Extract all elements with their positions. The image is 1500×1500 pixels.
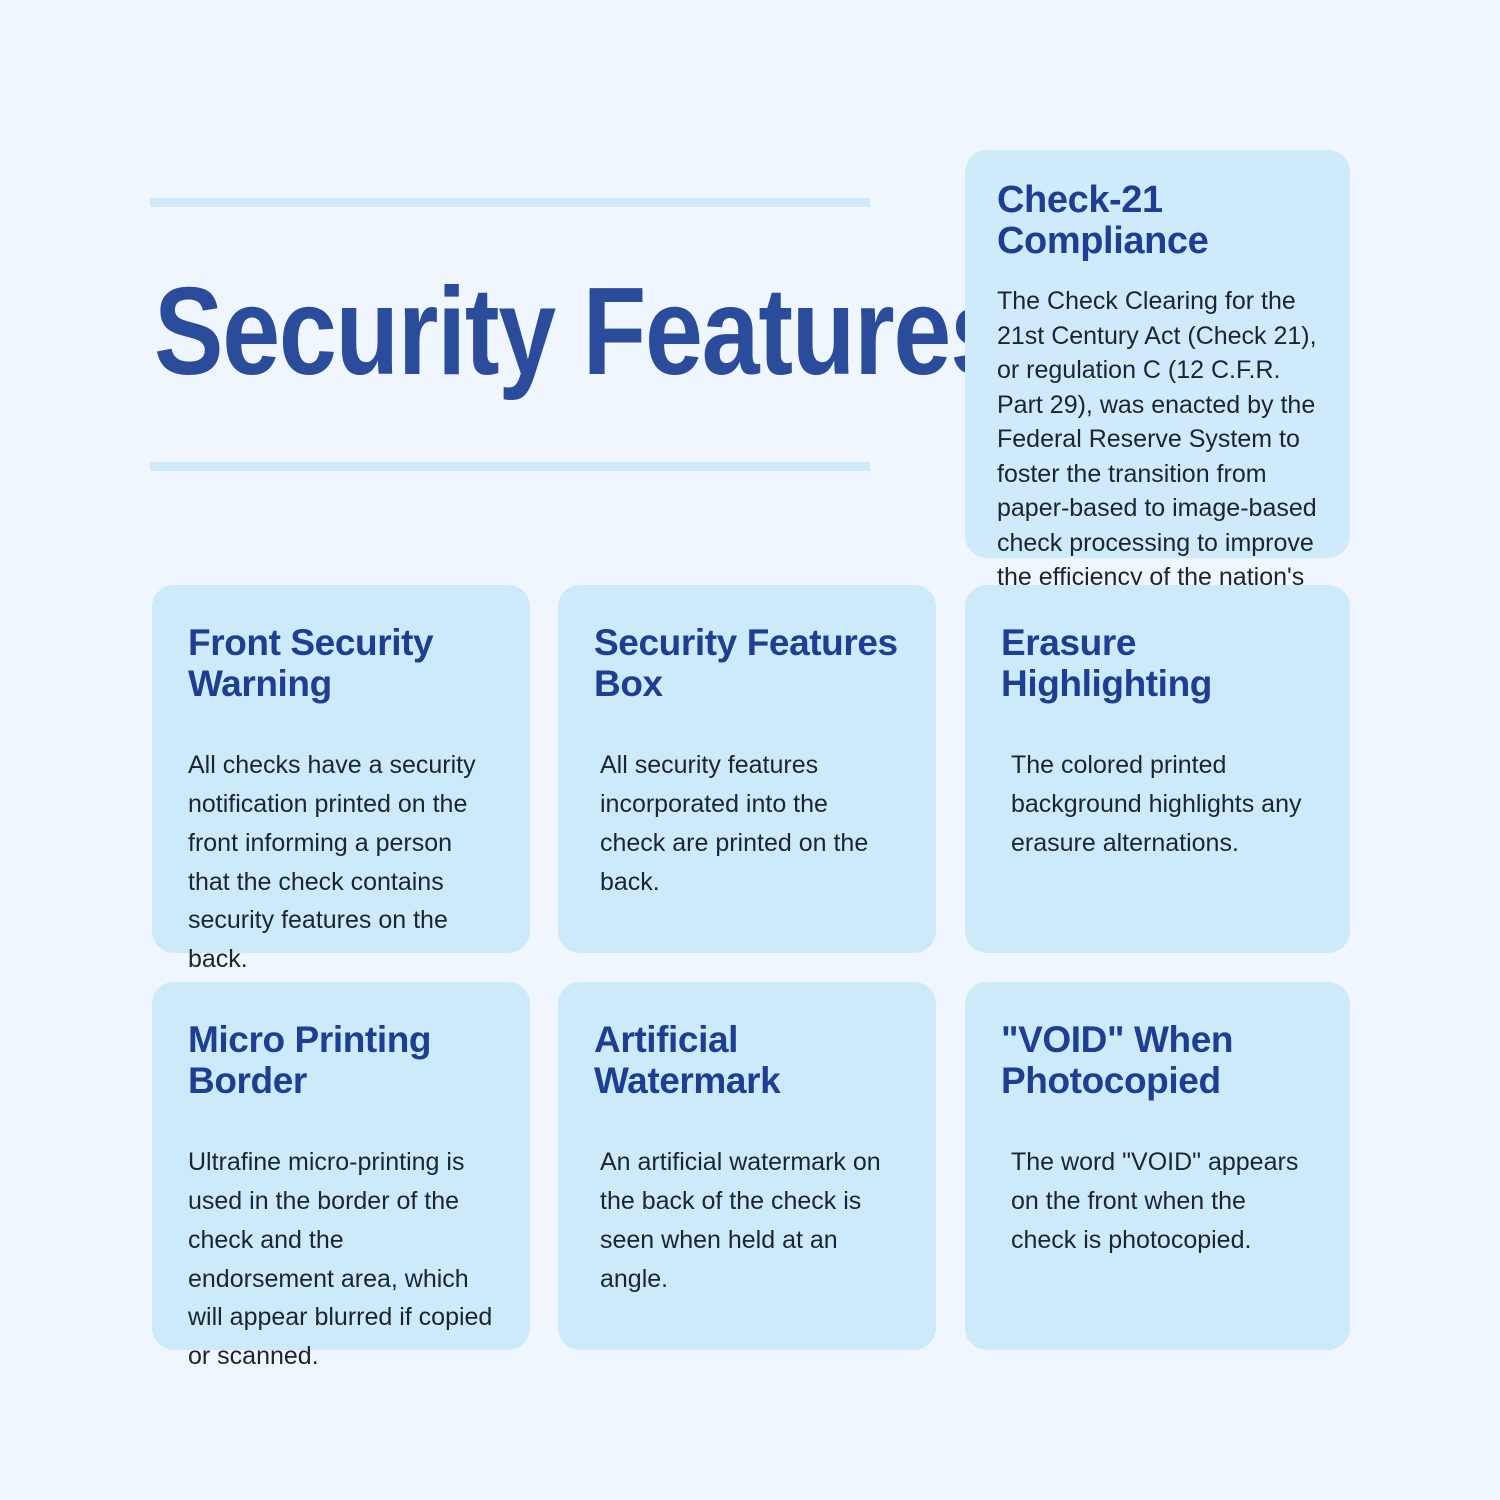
card-micro-printing-border[interactable]: Micro Printing Border Ultrafine micro-pr…: [152, 982, 530, 1350]
card-title: Security Features Box: [594, 623, 900, 704]
card-check-21-compliance[interactable]: Check-21 Compliance The Check Clearing f…: [965, 150, 1350, 558]
card-body: The colored printed background highlight…: [1001, 746, 1314, 862]
card-artificial-watermark[interactable]: Artificial Watermark An artificial water…: [558, 982, 936, 1350]
card-title: Erasure Highlighting: [1001, 623, 1314, 704]
page-title: Security Features: [154, 270, 1007, 394]
card-title: Micro Printing Border: [188, 1020, 494, 1101]
infographic-page: Security Features Check-21 Compliance Th…: [0, 0, 1500, 1500]
title-divider-top: [150, 198, 870, 207]
title-divider-bottom: [150, 462, 870, 471]
card-body: All checks have a security notification …: [188, 746, 494, 979]
card-title: "VOID" When Photocopied: [1001, 1020, 1314, 1101]
card-void-when-photocopied[interactable]: "VOID" When Photocopied The word "VOID" …: [965, 982, 1350, 1350]
card-security-features-box[interactable]: Security Features Box All security featu…: [558, 585, 936, 953]
card-erasure-highlighting[interactable]: Erasure Highlighting The colored printed…: [965, 585, 1350, 953]
card-body: The Check Clearing for the 21st Century …: [997, 284, 1318, 629]
card-body: An artificial watermark on the back of t…: [594, 1143, 900, 1298]
card-title: Front Security Warning: [188, 623, 494, 704]
title-block: Security Features: [150, 198, 870, 473]
card-title: Artificial Watermark: [594, 1020, 900, 1101]
card-front-security-warning[interactable]: Front Security Warning All checks have a…: [152, 585, 530, 953]
card-body: The word "VOID" appears on the front whe…: [1001, 1143, 1314, 1259]
card-body: All security features incorporated into …: [594, 746, 900, 901]
card-title: Check-21 Compliance: [997, 180, 1318, 262]
card-body: Ultrafine micro-printing is used in the …: [188, 1143, 494, 1376]
